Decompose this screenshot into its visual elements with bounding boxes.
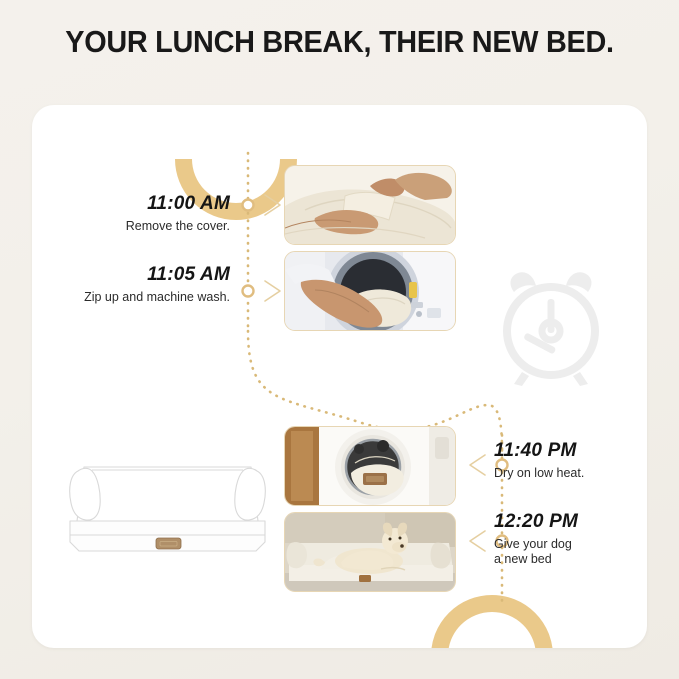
step-2-time: 11:05 AM xyxy=(40,264,230,286)
page-title: YOUR LUNCH BREAK, THEIR NEW BED. xyxy=(24,24,655,60)
step-4-description: Give your dog a new bed xyxy=(494,537,644,567)
photo-dog-on-bed xyxy=(284,512,456,592)
infographic-card: 11:00 AM Remove the cover. 11:05 AM Zip … xyxy=(32,105,647,648)
step-3: 11:40 PM Dry on low heat. xyxy=(494,440,644,481)
step-1-time: 11:00 AM xyxy=(50,193,230,215)
alarm-clock-icon xyxy=(492,268,610,386)
sofa-dog-bed-outline xyxy=(60,443,275,568)
step-2-description: Zip up and machine wash. xyxy=(40,290,230,305)
step-1-description: Remove the cover. xyxy=(50,219,230,234)
step-4: 12:20 PM Give your dog a new bed xyxy=(494,511,644,567)
photo-remove-cover xyxy=(284,165,456,245)
step-3-description: Dry on low heat. xyxy=(494,466,644,481)
step-1: 11:00 AM Remove the cover. xyxy=(50,193,230,234)
photo-dryer xyxy=(284,426,456,506)
gold-arc-bottom-decoration xyxy=(431,595,553,648)
step-3-time: 11:40 PM xyxy=(494,440,644,462)
step-2: 11:05 AM Zip up and machine wash. xyxy=(40,264,230,305)
step-4-time: 12:20 PM xyxy=(494,511,644,533)
photo-machine-wash xyxy=(284,251,456,331)
